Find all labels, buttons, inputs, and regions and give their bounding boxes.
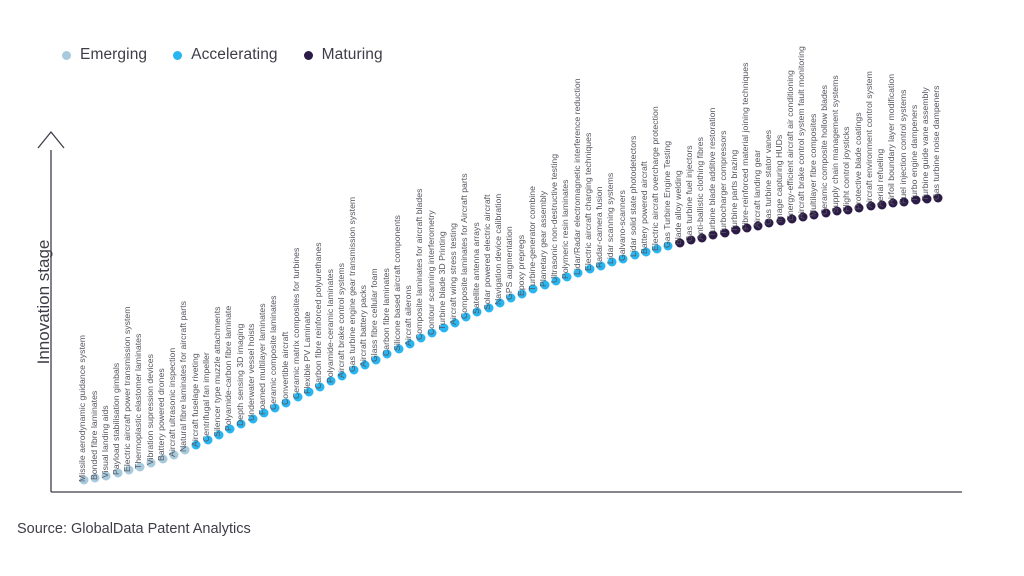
scatter-plot-area: Missile aerodynamic guidance systemBonde… xyxy=(0,0,1024,576)
data-point-label: Airfoil boundary layer modification xyxy=(887,74,896,205)
data-point-label: Missile aerodynamic guidance system xyxy=(78,335,87,482)
data-point-label: Battery powered aircraft xyxy=(640,161,649,254)
data-point-label: Epoxy prepregs xyxy=(517,235,526,296)
data-point-label: Turbine blade 3D Printing xyxy=(438,231,447,330)
data-point-label: Aircraft fuselage riveting xyxy=(191,353,200,447)
data-point-label: Planetary gear assembly xyxy=(539,191,548,287)
data-point-label: Foamed multilayer laminates xyxy=(258,304,267,416)
data-point-label: GPS augmentation xyxy=(505,227,514,301)
data-point-label: Composite laminates for Aircraft parts xyxy=(460,174,469,320)
data-point-label: Depth sensing 3D imaging xyxy=(236,324,245,426)
source-caption: Source: GlobalData Patent Analytics xyxy=(17,521,251,537)
data-point-label: Aircraft brake control systems xyxy=(337,263,346,378)
data-point-label: Aircraft ultrasonic inspection xyxy=(168,348,177,457)
data-point-label: Satellite antenna arrays xyxy=(472,223,481,315)
data-point-label: Composite laminates for aircraft blades xyxy=(415,189,424,340)
data-point-label: Lidar scanning systems xyxy=(606,173,615,264)
data-point-label: Blade alloy welding xyxy=(674,170,683,245)
data-point-label: Multilayer fibre composites xyxy=(809,114,818,217)
data-point-label: Natural fibre laminates for aircraft par… xyxy=(179,301,188,452)
data-point-label: Gas turbine noise dampeners xyxy=(932,85,941,200)
data-point-label: Gas Turbine Engine Testing xyxy=(663,141,672,248)
data-point-label: Turbocharger compressors xyxy=(719,130,728,234)
data-point-label: Convertible aircraft xyxy=(281,331,290,404)
data-point-label: Polymeric resin laminates xyxy=(561,179,570,278)
data-point-label: Payload stabilisation gimbals xyxy=(112,363,121,475)
data-point-label: Energy-efficient aircraft air conditioni… xyxy=(786,70,795,221)
data-point-label: Solar powered electric aircraft xyxy=(483,194,492,310)
data-point-label: Gas turbine stator vanes xyxy=(764,130,773,225)
data-point-label: Electric aircraft overcharge protection xyxy=(651,106,660,251)
data-point-label: Turbo engine dampeners xyxy=(910,105,919,202)
data-point-label: Electric aircraft power transmission sys… xyxy=(123,307,132,472)
data-point-label: Gas turbine engine gear transmission sys… xyxy=(348,197,357,372)
data-point-label: Contour scanning interferometry xyxy=(427,210,436,335)
data-point-label: Anti-ballistic clothing fibres xyxy=(696,137,705,240)
data-point-label: Aircraft environment control system xyxy=(865,71,874,208)
data-point-label: Turbine blade additive restoration xyxy=(708,108,717,237)
data-point-label: Underwater vessel hoists xyxy=(247,323,256,421)
data-point-label: Centrifugal fan impeller xyxy=(202,352,211,442)
data-point-label: Polyamide-carbon fibre laminate xyxy=(224,306,233,431)
data-point-label: Fuel injection control systems xyxy=(899,89,908,204)
data-point-label: Aircraft ailerons xyxy=(404,285,413,346)
data-point-label: Carbon fibre laminates xyxy=(382,268,391,356)
data-point-label: Silicone based aircraft components xyxy=(393,215,402,351)
data-point-label: Lidar solid state photodetectors xyxy=(629,136,638,257)
data-point-label: Bonded fibre laminates xyxy=(90,391,99,480)
data-point-label: Aircraft brake control system fault moni… xyxy=(797,47,806,220)
data-point-label: Ceramic matrix composites for turbines xyxy=(292,248,301,399)
data-point-label: Navigation device calibration xyxy=(494,194,503,305)
data-point-label: Fibre-reinforced material joining techni… xyxy=(741,63,750,230)
data-point-label: Image capturing HUDs xyxy=(775,135,784,223)
data-point-label: Aerial refueling xyxy=(876,148,885,206)
data-point-label: Lidar/Radar electromagnetic interference… xyxy=(573,78,582,275)
data-point-label: Carbon fibre reinforced polyurethanes xyxy=(314,242,323,389)
data-point-label: Electric aircraft charging techniques xyxy=(584,133,593,271)
data-point-label: Visual landing aids xyxy=(101,405,110,478)
data-point-label: Ceramic composite hollow blades xyxy=(820,85,829,215)
data-point-label: Vibration supression devices xyxy=(146,354,155,465)
data-point-label: Turbine guide vane assembly xyxy=(921,87,930,201)
data-point-label: Glass fibre cellular foam xyxy=(370,268,379,362)
data-point-label: Polyamide-ceramic laminates xyxy=(326,269,335,383)
data-point-label: Battery powered drones xyxy=(157,369,166,462)
data-point-label: Aircraft landing gear xyxy=(753,150,762,228)
data-point-label: Thermoplastic elastomer laminates xyxy=(134,334,143,469)
data-point-label: Protective blade coatings xyxy=(854,112,863,210)
data-point-label: Turbine-generator combine xyxy=(528,186,537,291)
data-point-label: Gas turbine fuel injectors xyxy=(685,146,694,243)
data-point-label: Flexible PV Laminate xyxy=(303,311,312,394)
data-point-label: Supply chain management systems xyxy=(831,76,840,214)
data-point-label: Flight control joysticks xyxy=(842,126,851,211)
data-point-label: Ceramic composite laminates xyxy=(269,295,278,409)
data-point-label: Silencer type muzzle attachments xyxy=(213,306,222,437)
data-point-label: Galvano-scanners xyxy=(618,190,627,261)
data-point-label: Aircraft battery packs xyxy=(359,285,368,367)
data-point-label: Turbine parts brazing xyxy=(730,150,739,232)
data-point-label: Aircraft wing stress testing xyxy=(449,223,458,325)
data-point-label: Ultrasonic non-destructive testing xyxy=(550,154,559,283)
data-point-label: Radar-camera fusion xyxy=(595,186,604,268)
